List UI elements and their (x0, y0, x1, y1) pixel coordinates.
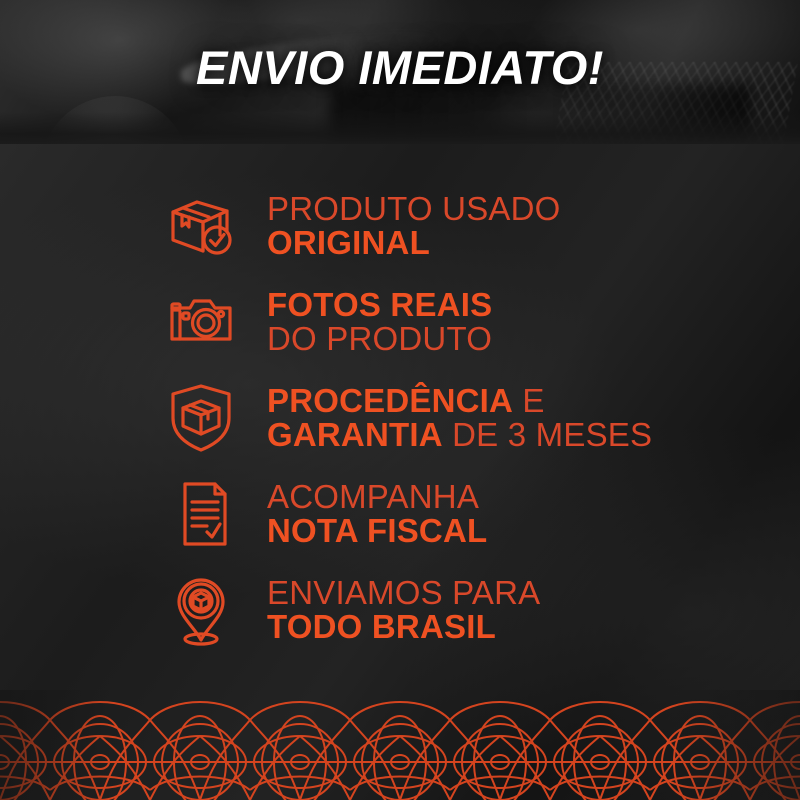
feature-line1-bold: FOTOS REAIS (267, 286, 492, 323)
feature-item-nota-fiscal: ACOMPANHA NOTA FISCAL (0, 466, 800, 562)
feature-item-procedencia-garantia: PROCEDÊNCIA E GARANTIA DE 3 MESES (0, 370, 800, 466)
banner-header: ENVIO IMEDIATO! (0, 0, 800, 148)
feature-line1-light: PRODUTO USADO (267, 190, 561, 227)
feature-item-todo-brasil: ENVIAMOS PARA TODO BRASIL (0, 562, 800, 658)
feature-text: FOTOS REAIS DO PRODUTO (267, 288, 492, 357)
feature-line2-bold: GARANTIA (267, 416, 443, 453)
feature-item-fotos-reais: FOTOS REAIS DO PRODUTO (0, 274, 800, 370)
feature-text: ENVIAMOS PARA TODO BRASIL (267, 576, 540, 645)
promo-banner: ENVIO IMEDIATO! (0, 0, 800, 800)
feature-line2-bold: ORIGINAL (267, 224, 430, 261)
page-title: ENVIO IMEDIATO! (0, 44, 800, 91)
shield-package-icon (163, 380, 239, 456)
feature-line2-light: DO PRODUTO (267, 320, 492, 357)
feature-line2-bold: NOTA FISCAL (267, 512, 487, 549)
feature-text: PRODUTO USADO ORIGINAL (267, 192, 561, 261)
floral-lattice-border (0, 690, 800, 800)
feature-text: ACOMPANHA NOTA FISCAL (267, 480, 487, 549)
feature-line1-light: E (513, 382, 545, 419)
feature-text: PROCEDÊNCIA E GARANTIA DE 3 MESES (267, 384, 652, 453)
camera-icon (163, 284, 239, 360)
feature-line2-light: DE 3 MESES (443, 416, 652, 453)
feature-line1-bold: PROCEDÊNCIA (267, 382, 513, 419)
map-pin-package-icon (163, 572, 239, 648)
feature-line1-light: ENVIAMOS PARA (267, 574, 540, 611)
package-check-icon (163, 188, 239, 264)
feature-line2-bold: TODO BRASIL (267, 608, 496, 645)
feature-list: PRODUTO USADO ORIGINAL (0, 178, 800, 658)
feature-line1-light: ACOMPANHA (267, 478, 479, 515)
invoice-check-icon (163, 476, 239, 552)
feature-item-produto-original: PRODUTO USADO ORIGINAL (0, 178, 800, 274)
